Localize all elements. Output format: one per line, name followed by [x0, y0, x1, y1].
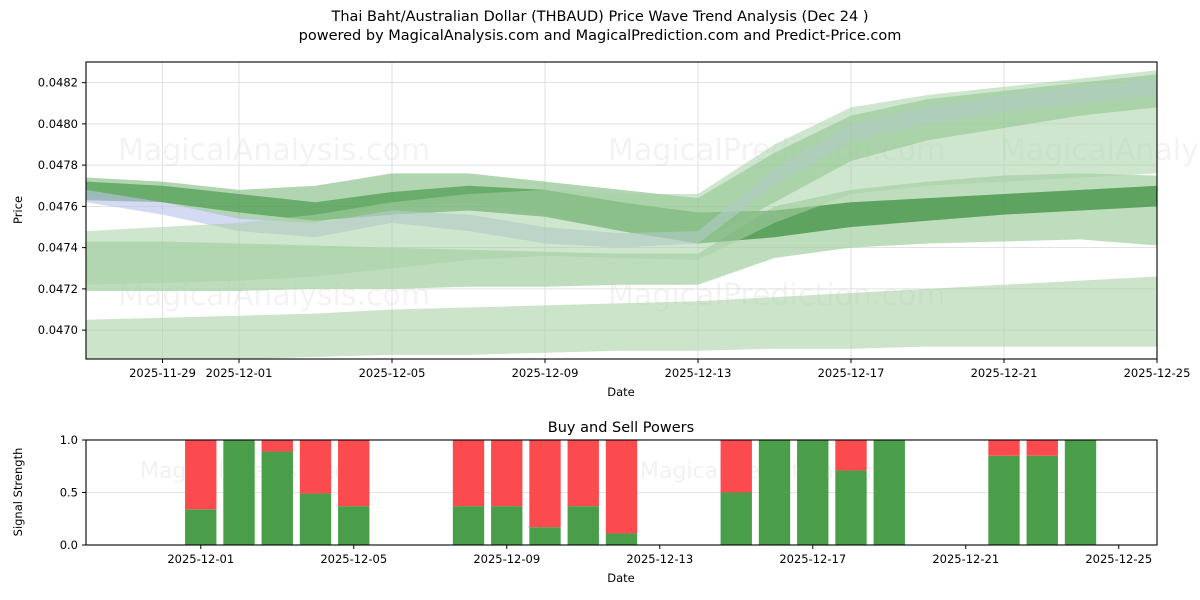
- price-wave-axes: MagicalAnalysis.comMagicalAnalysis.comMa…: [11, 62, 1200, 399]
- bar-sell-power: [721, 440, 752, 493]
- y-tick-label: 0.0480: [38, 117, 78, 131]
- bar-sell-power: [988, 440, 1019, 456]
- bar-buy-power: [223, 440, 254, 545]
- y-tick-label: 1.0: [60, 433, 78, 447]
- x-tick-label: 2025-12-13: [626, 552, 693, 566]
- bar-sell-power: [185, 440, 216, 509]
- bar-buy-power: [453, 506, 484, 545]
- x-tick-label: 2025-11-29: [129, 366, 196, 380]
- y-tick-label: 0.0476: [38, 199, 78, 213]
- bar-buy-power: [721, 493, 752, 546]
- title-line-2: powered by MagicalAnalysis.com and Magic…: [0, 27, 1200, 46]
- chart-page: Thai Baht/Australian Dollar (THBAUD) Pri…: [0, 0, 1200, 600]
- bar-buy-power: [491, 506, 522, 545]
- x-tick-label: 2025-12-25: [1085, 552, 1152, 566]
- x-tick-label: 2025-12-05: [320, 552, 387, 566]
- bar-sell-power: [491, 440, 522, 506]
- bar-buy-power: [300, 494, 331, 545]
- bar-buy-power: [262, 452, 293, 545]
- y-tick-label: 0.0472: [38, 282, 78, 296]
- bar-buy-power: [759, 440, 790, 545]
- y-tick-label: 0.0478: [38, 158, 78, 172]
- bar-sell-power: [1027, 440, 1058, 456]
- x-axis-label-date-top: Date: [607, 385, 635, 399]
- bar-buy-power: [185, 509, 216, 545]
- x-tick-label: 2025-12-17: [818, 366, 885, 380]
- bar-sell-power: [606, 440, 637, 533]
- x-tick-label: 2025-12-17: [779, 552, 846, 566]
- subchart-title: Buy and Sell Powers: [548, 420, 694, 436]
- y-tick-label: 0.0474: [38, 241, 78, 255]
- bar-buy-power: [835, 470, 866, 545]
- figure-canvas: MagicalAnalysis.comMagicalAnalysis.comMa…: [0, 0, 1200, 600]
- bar-buy-power: [606, 533, 637, 545]
- y-tick-label: 0.0470: [38, 323, 78, 337]
- y-tick-label: 0.0482: [38, 76, 78, 90]
- bar-buy-power: [338, 506, 369, 545]
- bar-sell-power: [453, 440, 484, 506]
- x-tick-label: 2025-12-21: [932, 552, 999, 566]
- bar-buy-power: [1065, 440, 1096, 545]
- bar-buy-power: [529, 527, 560, 545]
- y-tick-label: 0.5: [60, 486, 78, 500]
- bar-buy-power: [568, 506, 599, 545]
- bar-sell-power: [529, 440, 560, 527]
- x-tick-label: 2025-12-09: [473, 552, 540, 566]
- title-line-1: Thai Baht/Australian Dollar (THBAUD) Pri…: [0, 8, 1200, 27]
- bar-sell-power: [835, 440, 866, 470]
- bar-buy-power: [797, 440, 828, 545]
- bar-buy-power: [1027, 456, 1058, 545]
- x-tick-label: 2025-12-01: [206, 366, 273, 380]
- y-axis-label-price: Price: [11, 196, 25, 224]
- y-tick-label: 0.0: [60, 538, 78, 552]
- watermark-text: MagicalAnalysis.com: [118, 133, 430, 168]
- x-axis-label-date-bottom: Date: [607, 571, 635, 585]
- x-tick-label: 2025-12-13: [665, 366, 732, 380]
- bar-sell-power: [338, 440, 369, 506]
- bar-sell-power: [262, 440, 293, 452]
- buy-sell-powers-axes: Buy and Sell Powers MagicalAnalysis.comM…: [11, 420, 1157, 585]
- x-tick-label: 2025-12-09: [512, 366, 579, 380]
- page-title: Thai Baht/Australian Dollar (THBAUD) Pri…: [0, 8, 1200, 46]
- bar-buy-power: [988, 456, 1019, 545]
- x-tick-label: 2025-12-25: [1124, 366, 1191, 380]
- bar-buy-power: [874, 440, 905, 545]
- y-axis-label-signal-strength: Signal Strength: [11, 448, 25, 537]
- x-tick-label: 2025-12-21: [971, 366, 1038, 380]
- x-tick-label: 2025-12-01: [167, 552, 234, 566]
- x-tick-label: 2025-12-05: [359, 366, 426, 380]
- bar-sell-power: [568, 440, 599, 506]
- bar-sell-power: [300, 440, 331, 494]
